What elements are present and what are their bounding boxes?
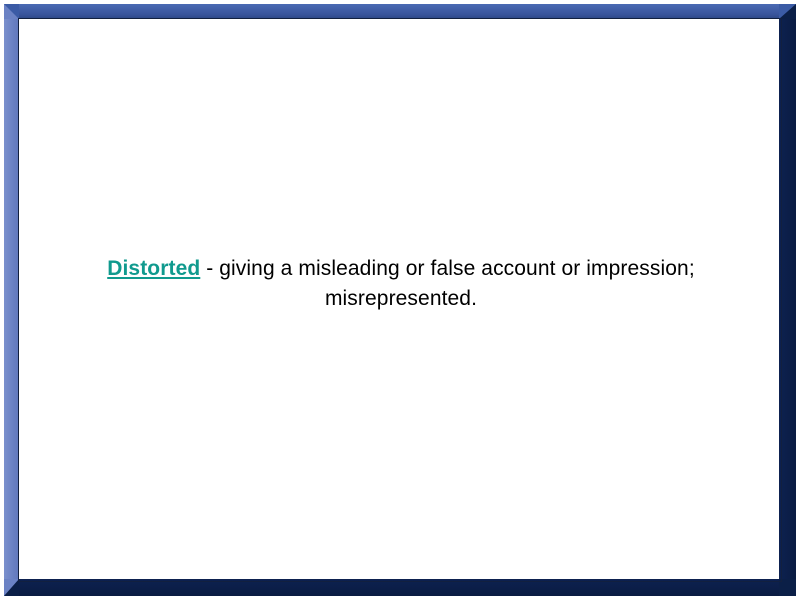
frame-edge-right <box>779 4 796 596</box>
frame-edge-top <box>4 4 796 19</box>
definition-term: Distorted <box>107 257 200 280</box>
definition-body: giving a misleading or false account or … <box>219 257 695 310</box>
slide-canvas: Distorted - giving a misleading or false… <box>20 20 781 581</box>
slide-root: Distorted - giving a misleading or false… <box>0 0 800 600</box>
definition-text-block: Distorted - giving a misleading or false… <box>56 254 746 314</box>
definition-separator: - <box>200 257 219 280</box>
frame-edge-left <box>4 4 19 596</box>
frame-corner-bottom-left <box>4 579 19 596</box>
frame-edge-bottom <box>4 579 796 596</box>
frame-corner-top-right <box>779 4 796 19</box>
frame-corner-top-left <box>4 4 19 19</box>
frame-corner-bottom-right <box>779 579 796 596</box>
